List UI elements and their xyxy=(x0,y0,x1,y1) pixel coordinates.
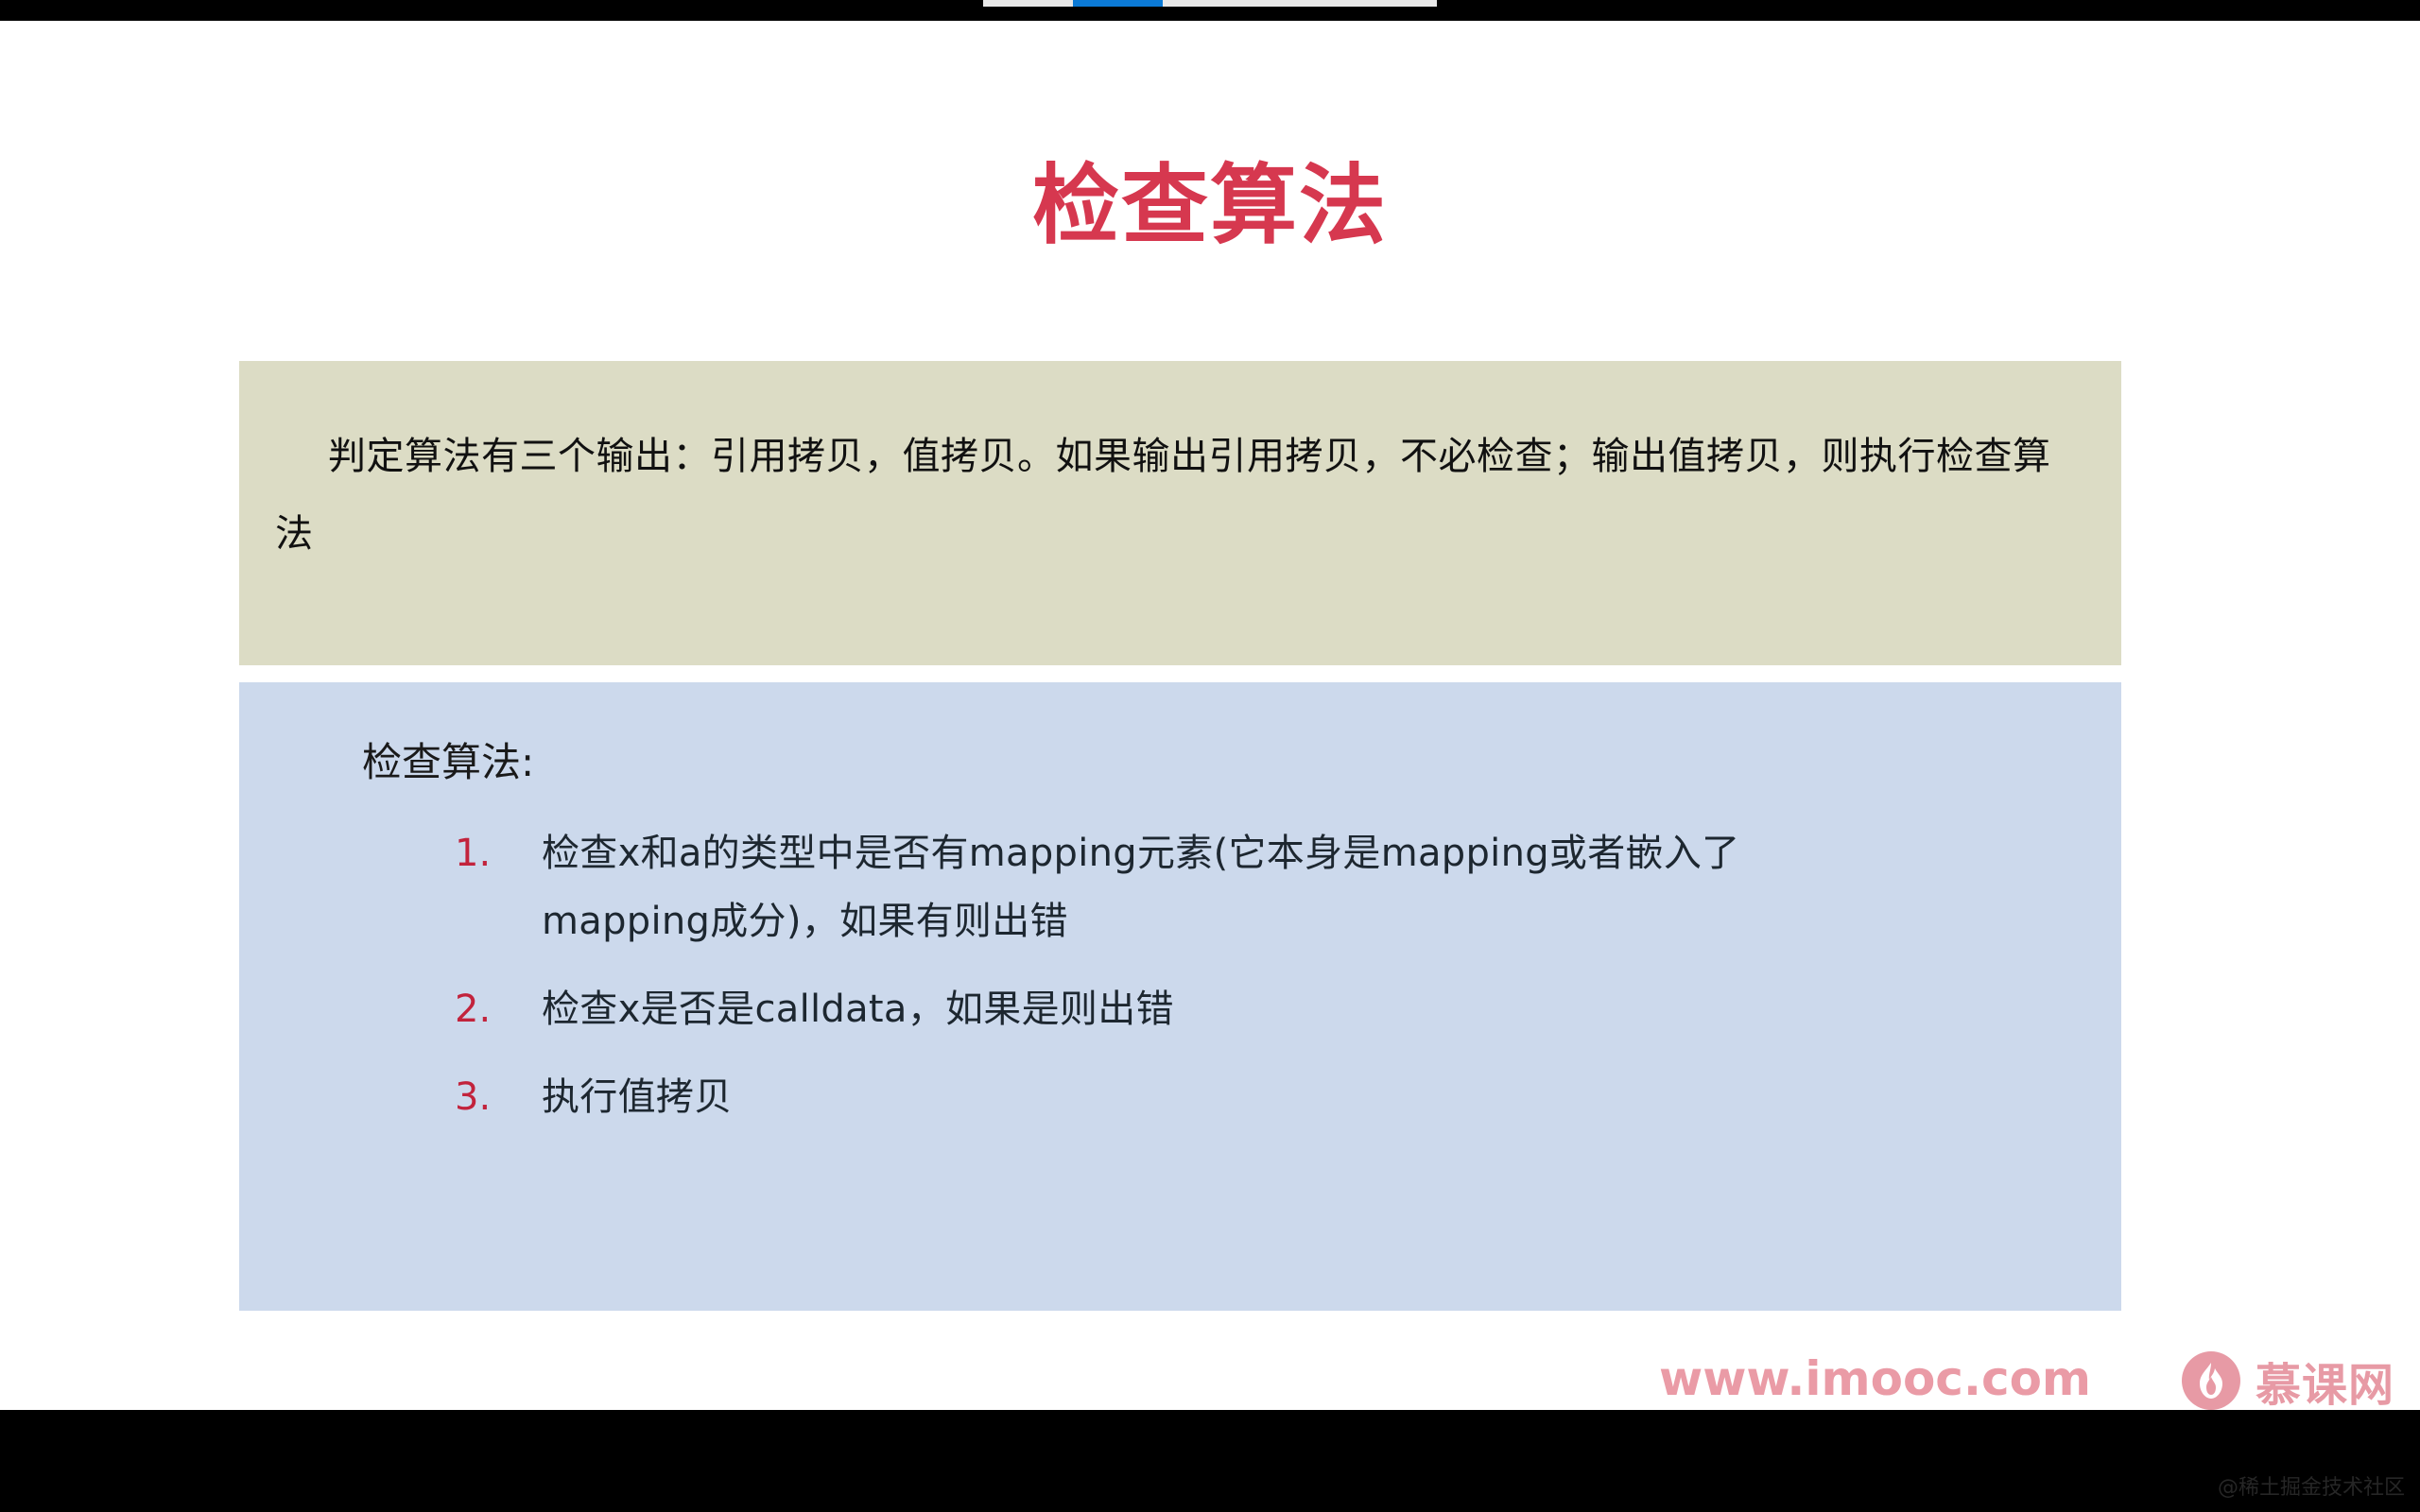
list-item-body: 执行值拷贝 xyxy=(542,1064,2085,1131)
presentation-slide: 检查算法 判定算法有三个输出：引用拷贝，值拷贝。如果输出引用拷贝，不必检查；输出… xyxy=(0,21,2420,1410)
flame-icon xyxy=(2182,1351,2240,1410)
list-item-line: mapping成分)，如果有则出错 xyxy=(542,888,2085,955)
list-item-marker: 3. xyxy=(455,1064,542,1131)
brand-logo: 慕课网 xyxy=(2182,1348,2394,1414)
list-item-line: 检查x和a的类型中是否有mapping元素(它本身是mapping或者嵌入了 xyxy=(542,820,2085,887)
list-item: 2. 检查x是否是calldata，如果是则出错 xyxy=(275,976,2085,1043)
brand-name: 慕课网 xyxy=(2256,1348,2394,1414)
premise-text: 判定算法有三个输出：引用拷贝，值拷贝。如果输出引用拷贝，不必检查；输出值拷贝，则… xyxy=(275,418,2085,573)
list-item: 1. 检查x和a的类型中是否有mapping元素(它本身是mapping或者嵌入… xyxy=(275,820,2085,954)
algorithm-heading: 检查算法: xyxy=(362,739,2085,786)
premise-box: 判定算法有三个输出：引用拷贝，值拷贝。如果输出引用拷贝，不必检查；输出值拷贝，则… xyxy=(239,361,2121,665)
list-item-body: 检查x和a的类型中是否有mapping元素(它本身是mapping或者嵌入了 m… xyxy=(542,820,2085,954)
list-item-marker: 2. xyxy=(455,976,542,1043)
brand-url: www.imooc.com xyxy=(1659,1351,2091,1406)
video-progress-bar[interactable] xyxy=(983,0,1437,7)
list-item-marker: 1. xyxy=(455,820,542,887)
watermark: @稀土掘金技术社区 xyxy=(2218,1470,2405,1501)
list-item-line: 执行值拷贝 xyxy=(542,1064,2085,1131)
algorithm-step-list: 1. 检查x和a的类型中是否有mapping元素(它本身是mapping或者嵌入… xyxy=(275,820,2085,1131)
algorithm-box: 检查算法: 1. 检查x和a的类型中是否有mapping元素(它本身是mappi… xyxy=(239,682,2121,1311)
video-progress-fill[interactable] xyxy=(1073,0,1163,7)
page-title: 检查算法 xyxy=(0,163,2420,249)
video-player-stage: 检查算法 判定算法有三个输出：引用拷贝，值拷贝。如果输出引用拷贝，不必检查；输出… xyxy=(0,0,2420,1512)
list-item-line: 检查x是否是calldata，如果是则出错 xyxy=(542,976,2085,1043)
list-item-body: 检查x是否是calldata，如果是则出错 xyxy=(542,976,2085,1043)
list-item: 3. 执行值拷贝 xyxy=(275,1064,2085,1131)
